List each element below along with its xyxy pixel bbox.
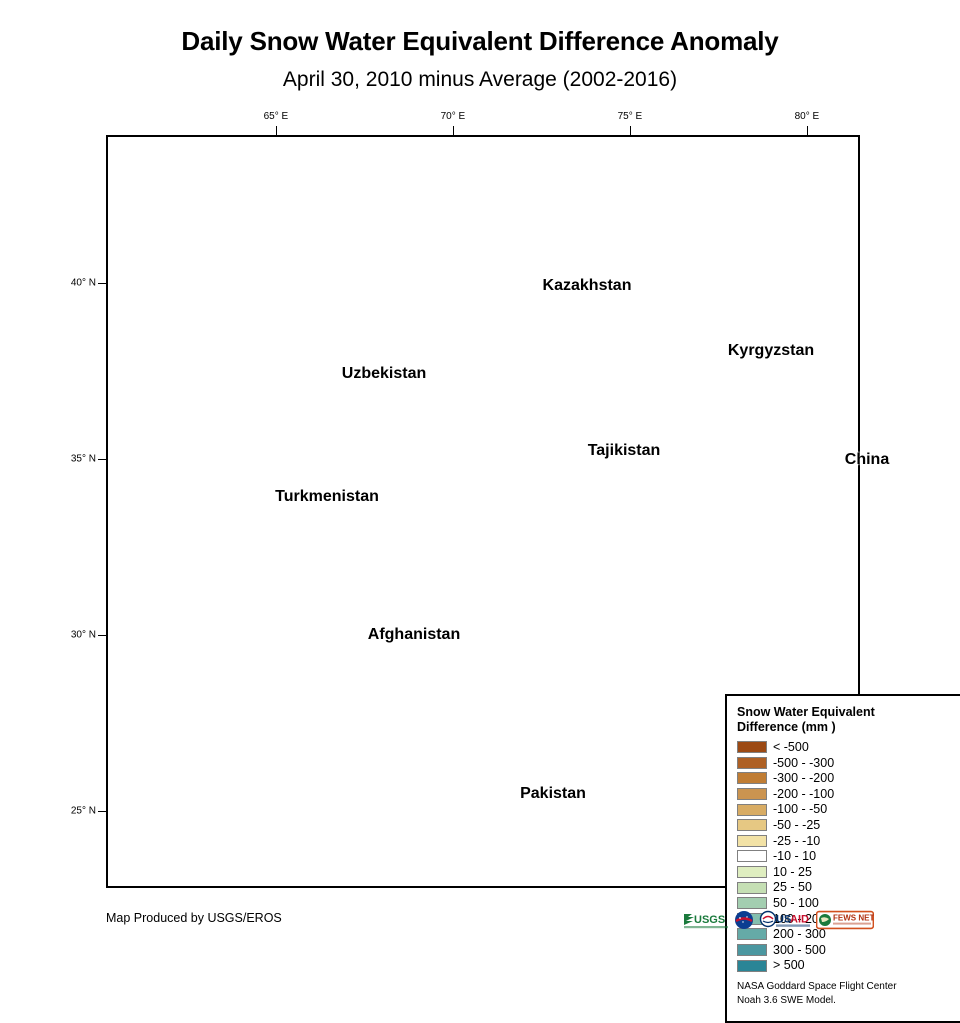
footer-credit: Map Produced by USGS/EROS xyxy=(106,911,282,925)
lon-tick-mark-3 xyxy=(807,126,808,135)
legend-row: -500 - -300 xyxy=(737,755,954,771)
country-label-kyrgyzstan: Kyrgyzstan xyxy=(728,342,814,360)
legend-swatch xyxy=(737,882,767,894)
legend-label: 50 - 100 xyxy=(773,897,819,910)
lat-tick-label-1: 35° N xyxy=(52,453,96,464)
svg-text:FEWS NET: FEWS NET xyxy=(833,913,874,922)
legend-swatch xyxy=(737,944,767,956)
lon-tick-mark-0 xyxy=(276,126,277,135)
map-canvas[interactable]: KazakhstanUzbekistanKyrgyzstanTajikistan… xyxy=(106,135,860,888)
legend-source-line-1: NASA Goddard Space Flight Center xyxy=(737,980,954,994)
legend-source-line-2: Noah 3.6 SWE Model. xyxy=(737,994,954,1008)
legend-label: -100 - -50 xyxy=(773,803,827,816)
lon-tick-label-1: 70° E xyxy=(441,111,466,122)
legend-swatch xyxy=(737,897,767,909)
usaid-logo: US AID xyxy=(759,909,811,930)
legend-row: -50 - -25 xyxy=(737,817,954,833)
legend-row: 300 - 500 xyxy=(737,942,954,958)
legend-row: 25 - 50 xyxy=(737,880,954,896)
country-label-uzbekistan: Uzbekistan xyxy=(342,365,426,383)
legend-row: < -500 xyxy=(737,740,954,756)
lat-tick-label-0: 40° N xyxy=(52,277,96,288)
country-label-china: China xyxy=(845,451,889,469)
legend-row: > 500 xyxy=(737,958,954,974)
legend-row: -300 - -200 xyxy=(737,771,954,787)
legend-swatch xyxy=(737,928,767,940)
lon-tick-label-0: 65° E xyxy=(264,111,289,122)
legend-title-line-1: Snow Water Equivalent xyxy=(737,705,954,720)
lon-tick-mark-2 xyxy=(630,126,631,135)
legend-swatch xyxy=(737,772,767,784)
lon-tick-label-3: 80° E xyxy=(795,111,820,122)
map-legend: Snow Water Equivalent Difference (mm ) <… xyxy=(725,694,960,1023)
page-subtitle: April 30, 2010 minus Average (2002-2016) xyxy=(0,68,960,92)
lat-tick-label-2: 30° N xyxy=(52,629,96,640)
legend-swatch xyxy=(737,960,767,972)
legend-swatch xyxy=(737,804,767,816)
legend-label: -50 - -25 xyxy=(773,819,820,832)
legend-swatch xyxy=(737,757,767,769)
legend-swatch xyxy=(737,850,767,862)
svg-text:USGS: USGS xyxy=(694,914,725,926)
legend-swatch xyxy=(737,741,767,753)
agency-logos: USGS US AID FEWS NET xyxy=(683,909,874,930)
legend-swatch xyxy=(737,819,767,831)
legend-label: > 500 xyxy=(773,959,805,972)
legend-title: Snow Water Equivalent Difference (mm ) xyxy=(737,705,954,736)
legend-class-list: < -500-500 - -300-300 - -200-200 - -100-… xyxy=(737,740,954,974)
legend-swatch xyxy=(737,788,767,800)
legend-swatch xyxy=(737,866,767,878)
lon-tick-label-2: 75° E xyxy=(618,111,643,122)
legend-label: 200 - 300 xyxy=(773,928,826,941)
legend-row: -100 - -50 xyxy=(737,802,954,818)
country-label-tajikistan: Tajikistan xyxy=(588,442,661,460)
legend-label: -25 - -10 xyxy=(773,835,820,848)
legend-label: -200 - -100 xyxy=(773,788,834,801)
legend-source: NASA Goddard Space Flight Center Noah 3.… xyxy=(737,980,954,1007)
svg-text:US: US xyxy=(776,913,791,925)
page-title: Daily Snow Water Equivalent Difference A… xyxy=(0,26,960,57)
svg-text:AID: AID xyxy=(790,913,809,925)
legend-label: 25 - 50 xyxy=(773,881,812,894)
legend-row: -25 - -10 xyxy=(737,833,954,849)
legend-label: -10 - 10 xyxy=(773,850,816,863)
country-label-kazakhstan: Kazakhstan xyxy=(543,277,632,295)
legend-row: -200 - -100 xyxy=(737,786,954,802)
nasa-logo xyxy=(734,909,754,930)
legend-row: -10 - 10 xyxy=(737,849,954,865)
legend-label: -300 - -200 xyxy=(773,772,834,785)
country-label-turkmenistan: Turkmenistan xyxy=(275,488,379,506)
lat-tick-label-3: 25° N xyxy=(52,805,96,816)
legend-row: 10 - 25 xyxy=(737,864,954,880)
fewsnet-logo: FEWS NET xyxy=(816,909,874,930)
legend-label: 10 - 25 xyxy=(773,866,812,879)
legend-title-line-2: Difference (mm ) xyxy=(737,720,954,735)
country-label-afghanistan: Afghanistan xyxy=(368,626,460,644)
legend-swatch xyxy=(737,835,767,847)
legend-label: 300 - 500 xyxy=(773,944,826,957)
country-label-pakistan: Pakistan xyxy=(520,785,586,803)
legend-label: < -500 xyxy=(773,741,809,754)
legend-label: -500 - -300 xyxy=(773,757,834,770)
lon-tick-mark-1 xyxy=(453,126,454,135)
usgs-logo: USGS xyxy=(683,909,729,930)
